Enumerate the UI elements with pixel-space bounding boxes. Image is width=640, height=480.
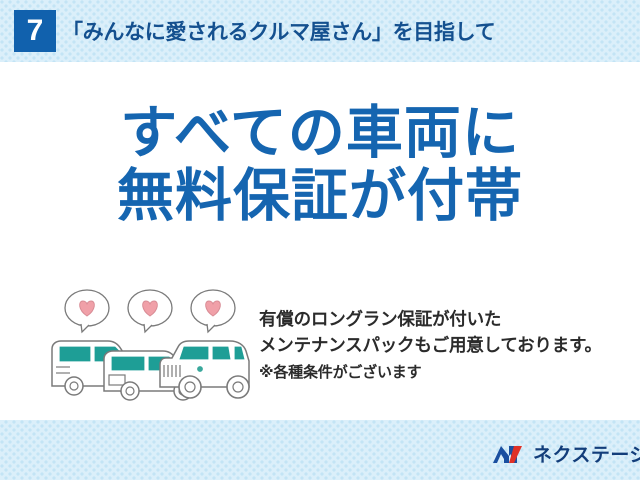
heart-bubble-3-shape [191,290,235,332]
brand-name: ネクステージ [533,443,640,467]
body-copy-note: ※各種条件がございます [259,359,619,384]
cars-with-hearts-illustration [48,287,253,402]
brand-logo: ネクステージ [492,440,640,470]
headline-line-1: すべての車両に [0,102,640,165]
body-copy: 有償のロングラン保証が付いた メンテナンスパックもご用意しております。 ※各種条… [259,307,619,384]
body-copy-line-1: 有償のロングラン保証が付いた [259,307,619,333]
headline: すべての車両に 無料保証が付帯 [0,102,640,228]
header-title: 「みんなに愛されるクルマ屋さん」を目指して [62,14,622,50]
header-bar: 7 「みんなに愛されるクルマ屋さん」を目指して [0,0,640,62]
nexstage-n-icon [492,443,526,467]
body-copy-line-2: メンテナンスパックもご用意しております。 [259,333,619,359]
section-number-badge: 7 [14,10,56,52]
heart-bubble-1-shape [65,290,109,332]
heart-bubble-2-shape [128,290,172,332]
headline-line-2: 無料保証が付帯 [0,165,640,228]
advertisement-poster: 7 「みんなに愛されるクルマ屋さん」を目指して すべての車両に 無料保証が付帯 [0,0,640,480]
content-panel: すべての車両に 無料保証が付帯 [0,62,640,420]
